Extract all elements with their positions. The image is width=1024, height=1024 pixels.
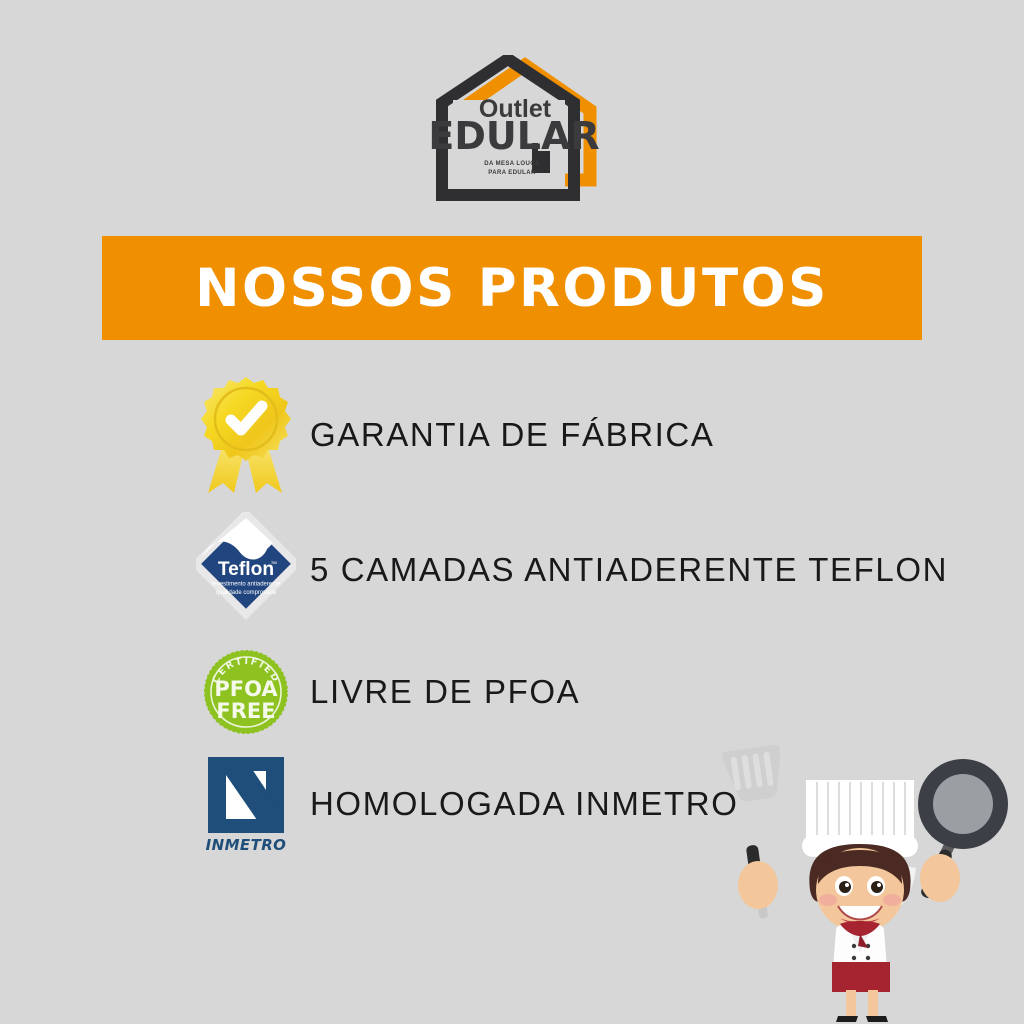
section-banner: NOSSOS PRODUTOS: [102, 236, 922, 340]
logo-tagline-line2: PARA EDULAR: [488, 170, 536, 176]
feature-label-teflon: 5 CAMADAS ANTIADERENTE TEFLON: [310, 551, 948, 589]
gold-medal-icon: [196, 376, 296, 494]
chef-hand-right: [920, 854, 960, 902]
inmetro-logo-icon: INMETRO: [196, 745, 296, 863]
chef-illustration: [718, 740, 1012, 1024]
chef-hand-left: [738, 861, 778, 909]
pfoa-text-line1: PFOA: [214, 677, 278, 701]
feature-row-warranty: GARANTIA DE FÁBRICA: [196, 366, 956, 504]
feature-label-pfoa: LIVRE DE PFOA: [310, 673, 580, 711]
chef-face: [816, 848, 904, 932]
pan-interior: [933, 774, 993, 834]
outlet-edular-logo: Outlet EDULAR DA MESA LOUÇA PARA EDULAR: [420, 55, 610, 205]
chef-leg-right: [868, 990, 878, 1016]
logo-word-edular: EDULAR: [428, 114, 599, 158]
pfoa-free-badge-icon: CERTIFIED PFOA FREE: [196, 633, 296, 751]
inmetro-left-bar: [208, 757, 226, 833]
teflon-diamond-icon: Teflon ™ revestimento antiaderente quali…: [196, 511, 296, 629]
teflon-wordmark: Teflon: [218, 559, 274, 580]
banner-title: NOSSOS PRODUTOS: [195, 262, 829, 315]
feature-label-warranty: GARANTIA DE FÁBRICA: [310, 416, 714, 454]
pfoa-text-line2: FREE: [216, 699, 275, 723]
feature-row-teflon: Teflon ™ revestimento antiaderente quali…: [196, 504, 956, 636]
feature-row-pfoa: CERTIFIED PFOA FREE LIVRE DE PFOA: [196, 636, 956, 748]
teflon-trademark-icon: ™: [271, 561, 278, 568]
feature-label-inmetro: HOMOLOGADA INMETRO: [310, 785, 739, 823]
chef-shoe-left: [836, 1016, 858, 1022]
inmetro-caption: INMETRO: [206, 836, 287, 853]
logo-tagline-line1: DA MESA LOUÇA: [484, 161, 540, 167]
chef-leg-left: [846, 990, 856, 1016]
teflon-subtitle-line1: revestimento antiaderente: [212, 581, 282, 587]
chef-skirt: [832, 962, 890, 992]
chef-shoe-right: [866, 1016, 888, 1022]
poster-canvas: Outlet EDULAR DA MESA LOUÇA PARA EDULAR …: [0, 0, 1024, 1024]
teflon-subtitle-line2: qualidade comprovada: [216, 590, 277, 596]
